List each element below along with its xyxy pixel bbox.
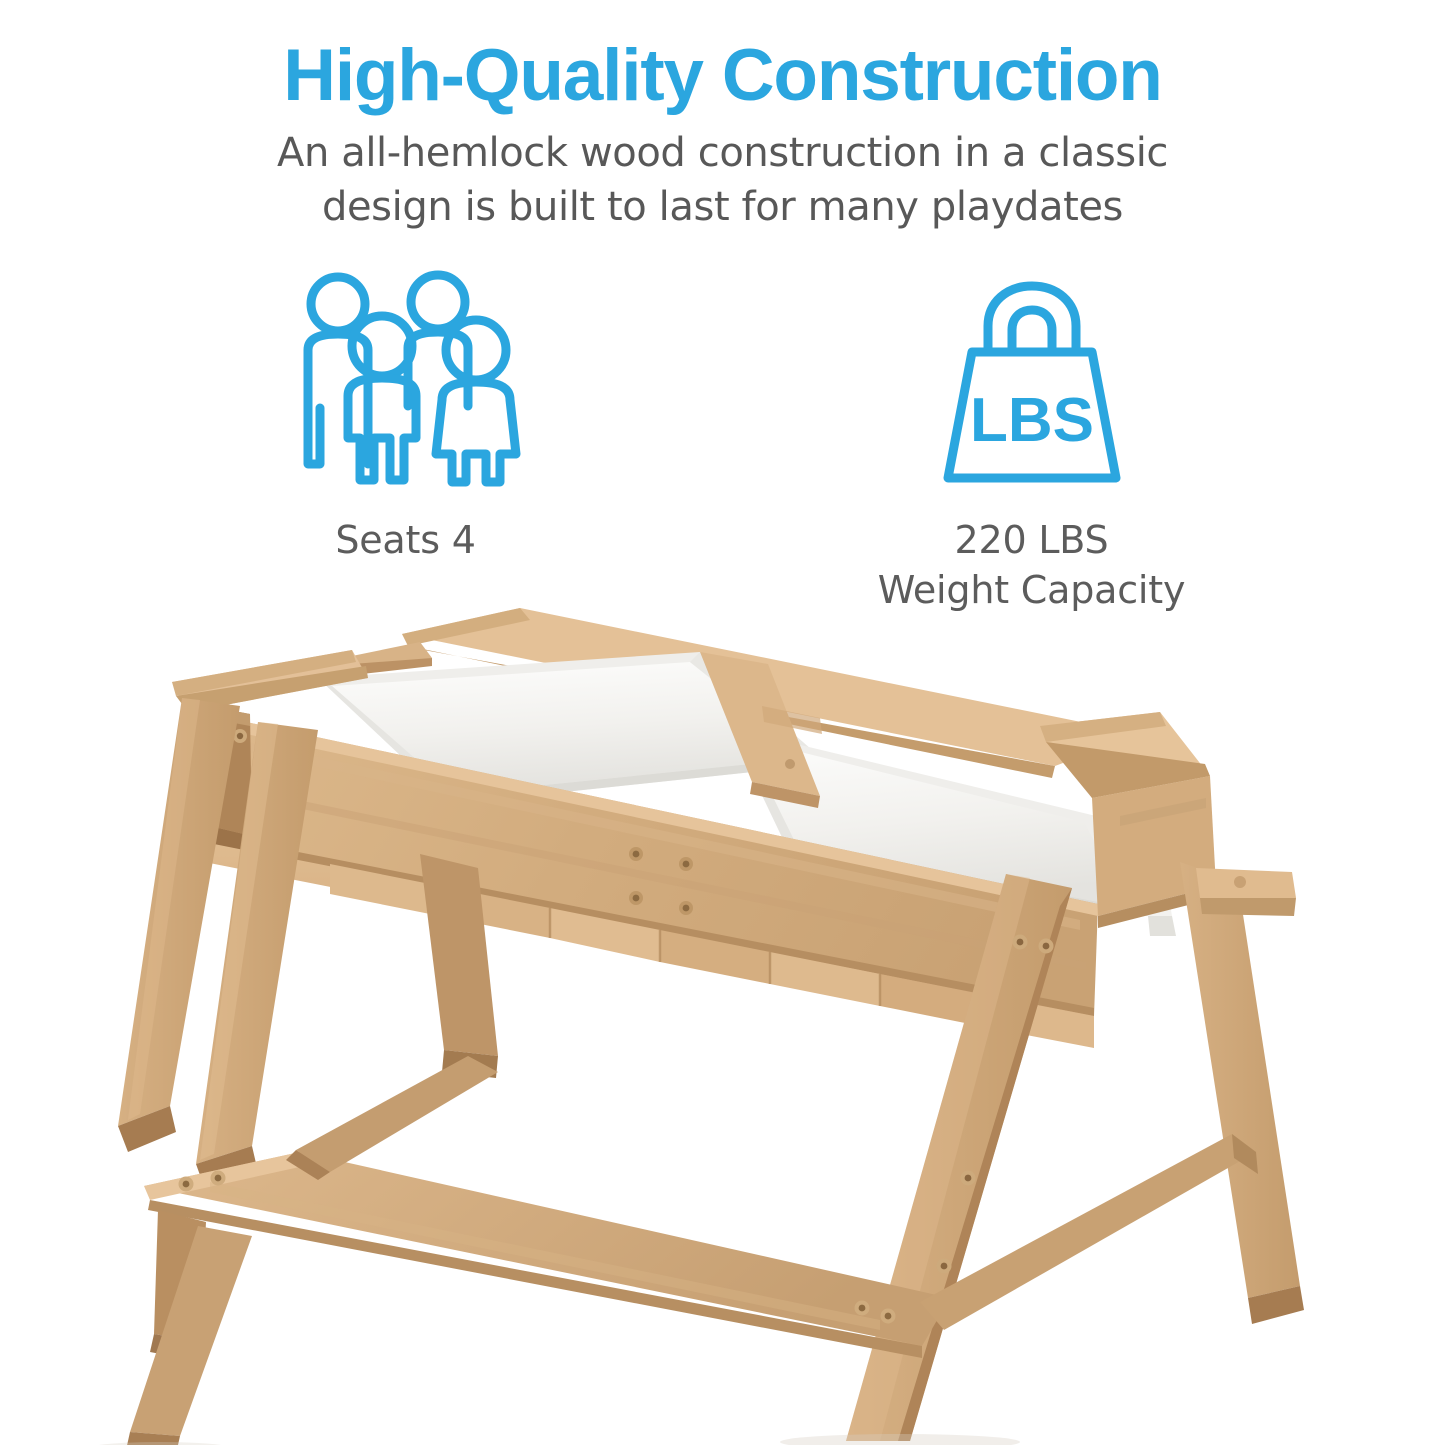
people-group-icon — [286, 258, 526, 493]
product-image — [0, 586, 1445, 1445]
feature-seats: Seats 4 — [156, 258, 656, 565]
page-title: High-Quality Construction — [0, 36, 1445, 116]
leg-rear-right — [1180, 862, 1304, 1324]
bench-brace-left — [286, 1056, 498, 1180]
subtitle-line-1: An all-hemlock wood construction in a cl… — [277, 130, 1168, 176]
page-subtitle: An all-hemlock wood construction in a cl… — [218, 126, 1228, 234]
leg-left-lower-tip — [126, 1226, 252, 1445]
feature-row: Seats 4 LBS 220 LBS — [0, 258, 1445, 615]
feature-seats-caption-line-1: Seats 4 — [335, 518, 475, 562]
weight-bag-icon: LBS — [932, 258, 1132, 493]
feature-weight: LBS 220 LBS Weight Capacity — [782, 258, 1282, 615]
feature-weight-caption-line-1: 220 LBS — [955, 518, 1109, 562]
header-block: High-Quality Construction An all-hemlock… — [0, 36, 1445, 234]
floor-shadow — [780, 1434, 1020, 1445]
subtitle-line-2: design is built to last for many playdat… — [322, 184, 1123, 230]
weight-bag-icon-text: LBS — [970, 386, 1094, 455]
bench-seat-right — [1196, 868, 1296, 916]
feature-seats-caption: Seats 4 — [335, 515, 475, 565]
product-infographic: High-Quality Construction An all-hemlock… — [0, 0, 1445, 1445]
